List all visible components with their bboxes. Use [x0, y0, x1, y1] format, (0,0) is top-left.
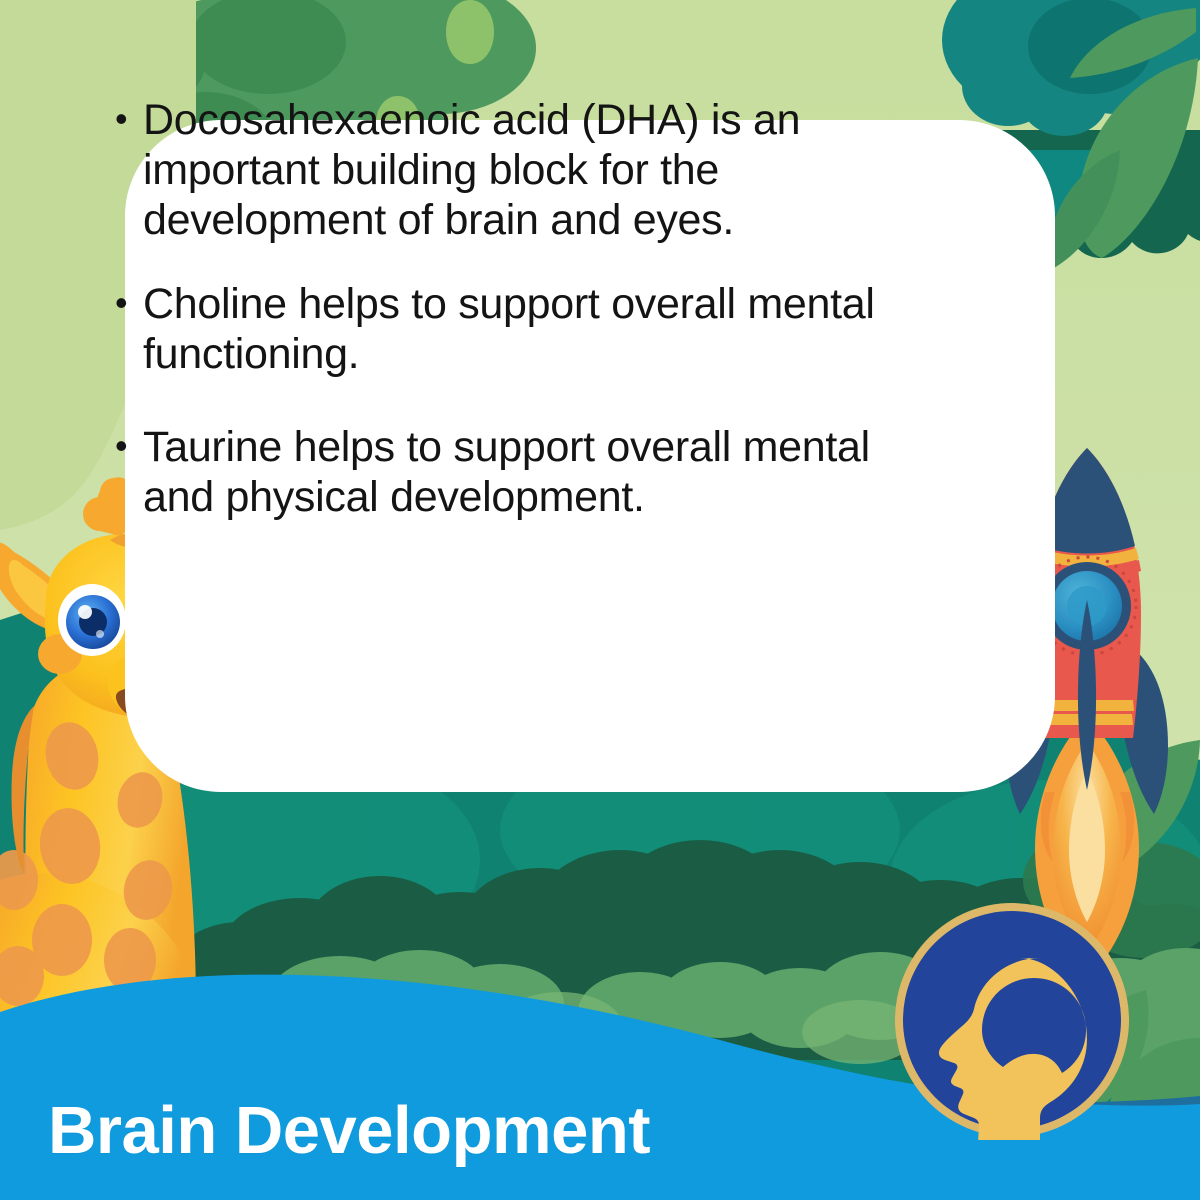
bullet-marker-icon: • [115, 423, 141, 469]
bullet-text: Taurine helps to support overall mental … [143, 423, 905, 523]
bullet-text: Choline helps to support overall mental … [143, 280, 955, 380]
list-item: • Taurine helps to support overall menta… [115, 423, 905, 523]
brain-development-badge [892, 900, 1132, 1140]
list-item: • Docosahexaenoic acid (DHA) is an impor… [115, 96, 875, 246]
bullet-list: • Docosahexaenoic acid (DHA) is an impor… [115, 96, 1160, 557]
slide-canvas: • Docosahexaenoic acid (DHA) is an impor… [0, 0, 1200, 1200]
giraffe-eye-left [58, 584, 126, 656]
bullet-marker-icon: • [115, 280, 141, 326]
bullet-text: Docosahexaenoic acid (DHA) is an importa… [143, 96, 875, 246]
page-title: Brain Development [48, 1097, 650, 1164]
bullet-marker-icon: • [115, 96, 141, 142]
list-item: • Choline helps to support overall menta… [115, 280, 955, 380]
